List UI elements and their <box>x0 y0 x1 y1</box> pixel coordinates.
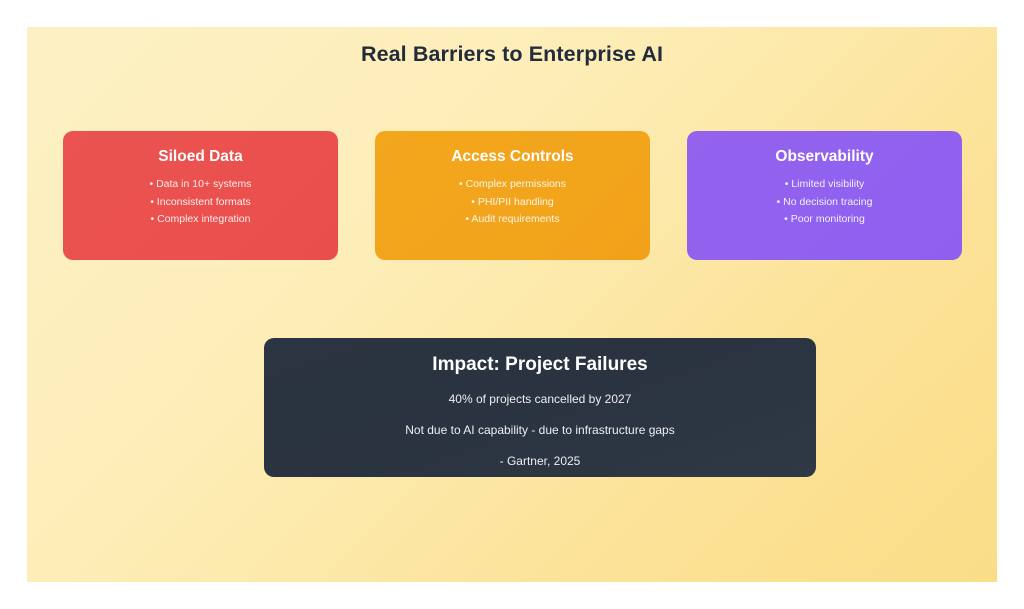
impact-explanation-line: Not due to AI capability - due to infras… <box>264 423 816 438</box>
list-item: • Audit requirements <box>389 211 636 229</box>
barrier-card-title: Siloed Data <box>77 148 324 165</box>
barrier-card-access-controls: Access Controls • Complex permissions • … <box>375 131 650 260</box>
impact-statistic-line: 40% of projects cancelled by 2027 <box>264 392 816 407</box>
list-item: • Complex integration <box>77 211 324 229</box>
barrier-card-observability: Observability • Limited visibility • No … <box>687 131 962 260</box>
barrier-card-siloed-data: Siloed Data • Data in 10+ systems • Inco… <box>63 131 338 260</box>
list-item: • PHI/PII handling <box>389 194 636 212</box>
slide-canvas: Real Barriers to Enterprise AI Siloed Da… <box>0 0 1024 609</box>
list-item: • Data in 10+ systems <box>77 176 324 194</box>
impact-title: Impact: Project Failures <box>264 354 816 377</box>
list-item: • Inconsistent formats <box>77 194 324 212</box>
list-item: • Limited visibility <box>701 176 948 194</box>
barrier-card-bullet-list: • Limited visibility • No decision traci… <box>701 176 948 229</box>
impact-callout-box: Impact: Project Failures 40% of projects… <box>264 338 816 477</box>
barrier-card-bullet-list: • Complex permissions • PHI/PII handling… <box>389 176 636 229</box>
barrier-card-title: Observability <box>701 148 948 165</box>
list-item: • No decision tracing <box>701 194 948 212</box>
list-item: • Complex permissions <box>389 176 636 194</box>
barrier-card-title: Access Controls <box>389 148 636 165</box>
barrier-card-bullet-list: • Data in 10+ systems • Inconsistent for… <box>77 176 324 229</box>
barrier-cards-row: Siloed Data • Data in 10+ systems • Inco… <box>63 131 962 260</box>
presentation-slide: Real Barriers to Enterprise AI Siloed Da… <box>27 27 997 582</box>
impact-source-citation: - Gartner, 2025 <box>264 454 816 469</box>
page-title: Real Barriers to Enterprise AI <box>27 42 997 67</box>
list-item: • Poor monitoring <box>701 211 948 229</box>
